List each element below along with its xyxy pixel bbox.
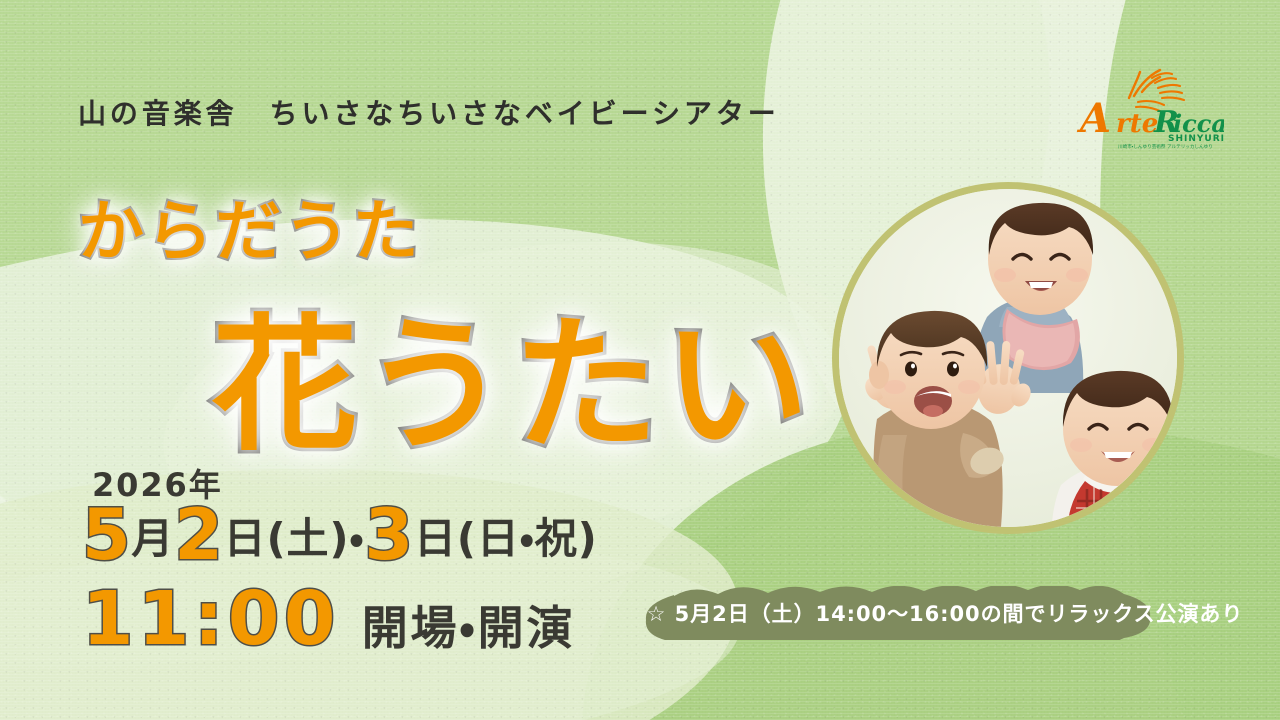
main-title-hanautai: 花うたい xyxy=(212,268,814,479)
banner-text: ☆ 5月2日（土）14:00〜16:00の間でリラックス公演あり xyxy=(640,586,1250,640)
date-month-number: 5 xyxy=(82,494,131,576)
poster-canvas: 山の音楽舎 ちいさなちいさなベイビーシアター A rte xyxy=(0,0,1280,720)
svg-text:rte: rte xyxy=(1116,109,1158,139)
date-separator: ・ xyxy=(349,514,364,563)
header-tagline: 山の音楽舎 ちいさなちいさなベイビーシアター xyxy=(78,92,780,132)
date-day2-unit: 日 xyxy=(414,514,457,563)
date-month-unit: 月 xyxy=(131,514,174,563)
event-time-line: 11:00開場・開演 xyxy=(82,582,575,656)
svg-text:SHINYURI: SHINYURI xyxy=(1168,134,1224,144)
date-day2-number: 3 xyxy=(365,494,414,576)
babies-illustration-icon xyxy=(839,189,1177,527)
relax-performance-banner: ☆ 5月2日（土）14:00〜16:00の間でリラックス公演あり xyxy=(640,586,1250,640)
date-day1-weekday: (土) xyxy=(267,514,350,563)
event-date-line: 5月2日(土)・3日(日・祝) xyxy=(82,500,598,570)
svg-text:A: A xyxy=(1076,95,1111,142)
babies-photo xyxy=(832,182,1184,534)
date-day1-number: 2 xyxy=(174,494,223,576)
subtitle-karadauta: からだうた xyxy=(78,178,421,274)
date-day1-unit: 日 xyxy=(224,514,267,563)
logo-mark-icon: A rte R icca SHINYURI 川崎市・しんゆり芸術祭 アルテリッカ… xyxy=(1072,62,1224,150)
svg-text:川崎市・しんゆり芸術祭 アルテリッカしんゆり: 川崎市・しんゆり芸術祭 アルテリッカしんゆり xyxy=(1118,143,1213,150)
event-time-label: 開場・開演 xyxy=(362,601,575,655)
photo-image xyxy=(839,189,1177,527)
arteRicca-logo[interactable]: A rte R icca SHINYURI 川崎市・しんゆり芸術祭 アルテリッカ… xyxy=(1072,62,1224,150)
event-time-value: 11:00 xyxy=(82,576,340,662)
date-day2-weekday: (日・祝) xyxy=(457,514,598,563)
